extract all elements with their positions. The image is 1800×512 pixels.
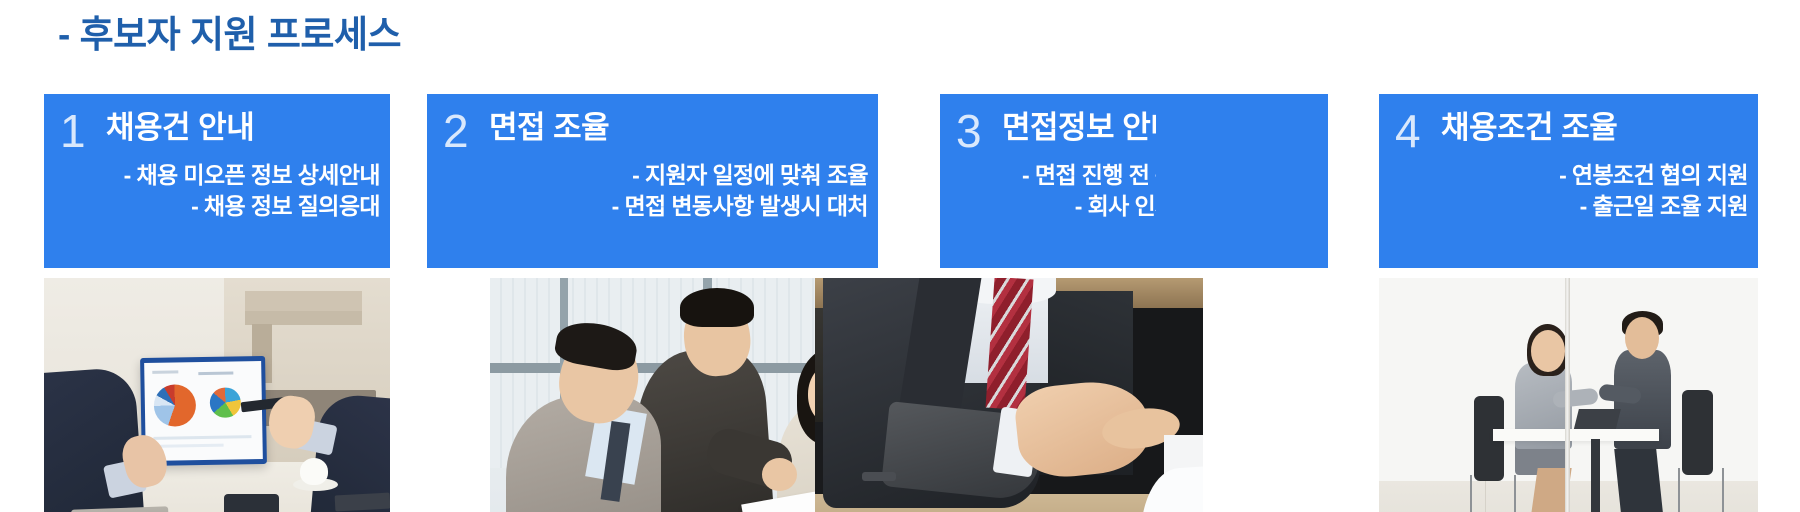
card-2-heading: 면접 조율 [489, 108, 609, 148]
card-4-heading: 채용조건 조율 [1441, 108, 1617, 148]
card-3-heading: 면접정보 안내 [1002, 108, 1156, 148]
card-2-header: 2 면접 조율 - 지원자 일정에 맞춰 조율 - 면접 변동사항 발생시 대처 [427, 94, 878, 268]
card-3-photo [815, 278, 1203, 512]
card-3-header: 3 면접정보 안내 - 면접 진행 전 관련 정보 안내 - 회사 인재 요구상… [940, 94, 1156, 268]
slide-canvas: - 후보자 지원 프로세스 1 채용건 안내 - 채용 미오픈 정보 상세안내 … [0, 0, 1800, 512]
card-4-header: 4 채용조건 조율 - 연봉조건 협의 지원 - 출근일 조율 지원 [1379, 94, 1758, 268]
card-3-bullets: - 면접 진행 전 관련 정보 안내 - 회사 인재 요구상 안내 [940, 160, 1156, 222]
card-4-photo [1379, 278, 1758, 512]
card-1-number: 1 [60, 108, 86, 154]
card-3-bullet-2: - 회사 인재 요구상 안내 [940, 191, 1156, 222]
page-title: - 후보자 지원 프로세스 [58, 14, 401, 57]
card-1-heading: 채용건 안내 [106, 108, 254, 148]
card-1-bullet-2: - 채용 정보 질의응대 [44, 191, 380, 222]
card-1-photo [44, 278, 390, 512]
card-4-bullet-1: - 연봉조건 협의 지원 [1379, 160, 1748, 191]
card-2-bullet-2: - 면접 변동사항 발생시 대처 [427, 191, 868, 222]
card-4-bullet-2: - 출근일 조율 지원 [1379, 191, 1748, 222]
card-4-bullets: - 연봉조건 협의 지원 - 출근일 조율 지원 [1379, 160, 1748, 222]
card-4-number: 4 [1395, 108, 1421, 154]
card-2-bullets: - 지원자 일정에 맞춰 조율 - 면접 변동사항 발생시 대처 [427, 160, 868, 222]
card-2-bullet-1: - 지원자 일정에 맞춰 조율 [427, 160, 868, 191]
card-2-number: 2 [443, 108, 469, 154]
card-1-bullets: - 채용 미오픈 정보 상세안내 - 채용 정보 질의응대 [44, 160, 380, 222]
card-1-bullet-1: - 채용 미오픈 정보 상세안내 [44, 160, 380, 191]
card-1-header: 1 채용건 안내 - 채용 미오픈 정보 상세안내 - 채용 정보 질의응대 [44, 94, 390, 268]
card-3-bullet-1: - 면접 진행 전 관련 정보 안내 [940, 160, 1156, 191]
card-3-number: 3 [956, 108, 982, 154]
